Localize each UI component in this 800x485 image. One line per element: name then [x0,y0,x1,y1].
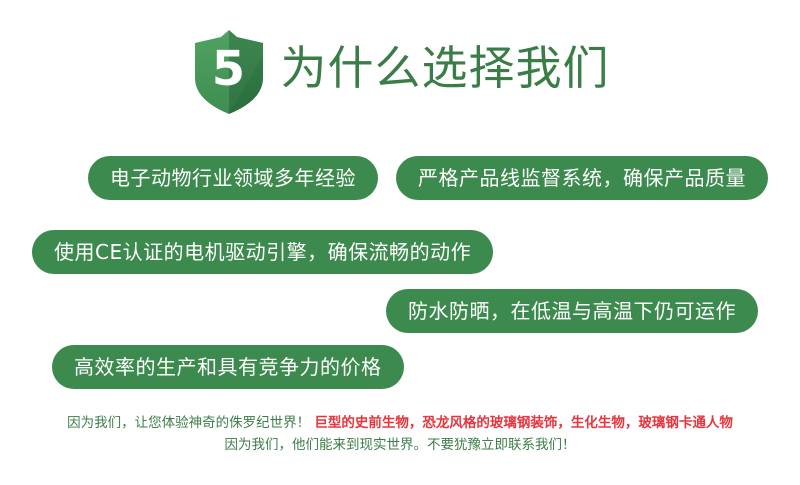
footer-line-1-intro: 因为我们，让您体验神奇的侏罗纪世界！ [67,415,314,431]
feature-pill-3: 使用CE认证的电机驱动引擎，确保流畅的动作 [32,230,493,274]
feature-pill-2: 严格产品线监督系统，确保产品质量 [396,156,768,200]
feature-pill-4: 防水防晒，在低温与高温下仍可运作 [386,289,758,333]
page-title: 为什么选择我们 [281,45,610,99]
page-header: 5 为什么选择我们 [0,22,800,122]
feature-pill-list: 电子动物行业领域多年经验 严格产品线监督系统，确保产品质量 使用CE认证的电机驱… [0,150,800,400]
footer-line-1: 因为我们，让您体验神奇的侏罗纪世界！ 巨型的史前生物，恐龙风格的玻璃钢装饰，生化… [0,412,800,434]
footer-paragraph: 因为我们，让您体验神奇的侏罗纪世界！ 巨型的史前生物，恐龙风格的玻璃钢装饰，生化… [0,412,800,456]
footer-line-2: 因为我们，他们能来到现实世界。不要犹豫立即联系我们！ [0,434,800,456]
shield-badge: 5 [191,26,267,118]
feature-pill-5: 高效率的生产和具有竞争力的价格 [52,345,404,389]
feature-pill-1: 电子动物行业领域多年经验 [88,156,378,200]
footer-line-1-highlight: 巨型的史前生物，恐龙风格的玻璃钢装饰，生化生物，玻璃钢卡通人物 [314,415,733,431]
badge-number: 5 [191,26,267,118]
